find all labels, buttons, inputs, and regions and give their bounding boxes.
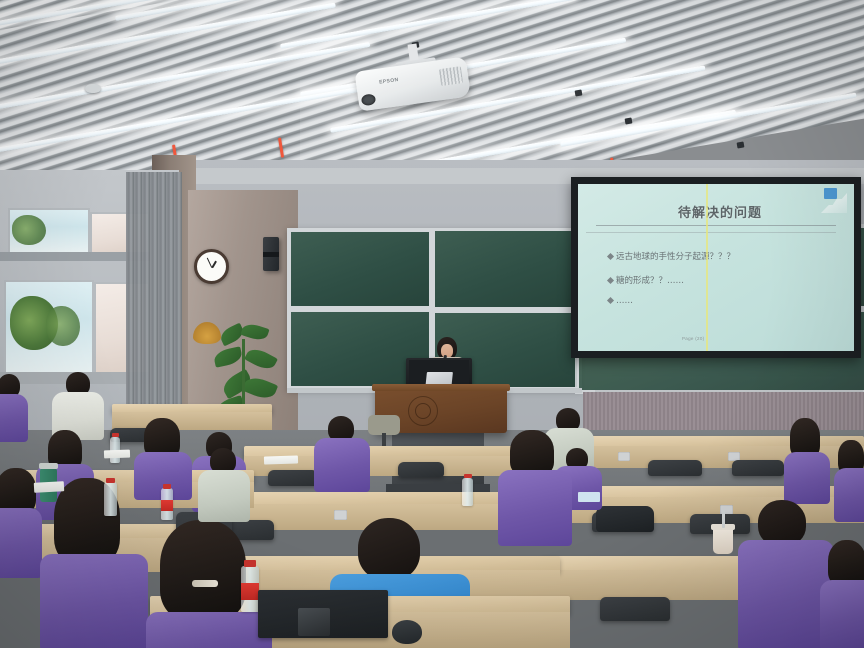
bottle-label bbox=[241, 583, 259, 600]
bottle-cap bbox=[464, 474, 472, 478]
classroom-chair[interactable] bbox=[600, 597, 670, 621]
stairs-logo-icon bbox=[824, 188, 837, 199]
clock-minute-hand bbox=[206, 257, 212, 268]
podium-top-surface bbox=[372, 384, 510, 391]
student-torso bbox=[834, 468, 864, 522]
student-torso bbox=[314, 438, 370, 492]
bottle-label bbox=[161, 500, 173, 511]
bottle-cap bbox=[106, 478, 115, 483]
slide-bullet-3: …… bbox=[608, 296, 633, 306]
led-end-cap bbox=[625, 117, 633, 124]
classroom-chair[interactable] bbox=[268, 470, 318, 486]
bottle-cap bbox=[163, 484, 171, 489]
blackboard-panel bbox=[291, 232, 429, 306]
computer-mouse[interactable] bbox=[392, 620, 422, 644]
projector-vent bbox=[439, 66, 463, 86]
bullet-diamond-icon bbox=[607, 297, 614, 304]
notebook-paper bbox=[104, 450, 130, 459]
student-torso bbox=[784, 452, 830, 504]
slide-title-underline bbox=[596, 225, 836, 226]
smartphone[interactable] bbox=[298, 608, 330, 636]
water-bottle bbox=[462, 478, 473, 506]
power-outlet[interactable] bbox=[618, 452, 630, 461]
screen-seam-line bbox=[706, 184, 708, 351]
student-hair bbox=[160, 520, 246, 620]
wall-speaker-band bbox=[263, 252, 279, 257]
plant-leaf bbox=[244, 345, 278, 373]
led-end-cap bbox=[737, 141, 745, 148]
university-seal-inner bbox=[415, 403, 431, 419]
slide-bullet-text: …… bbox=[616, 296, 633, 306]
bullet-diamond-icon bbox=[607, 277, 614, 284]
slide-title: 待解决的问题 bbox=[620, 202, 820, 221]
bottle-cap bbox=[112, 433, 119, 437]
tree-outside-window bbox=[12, 215, 46, 245]
classroom-chair[interactable] bbox=[648, 460, 702, 476]
plant-leaf bbox=[213, 346, 244, 367]
bubble-tea-cup bbox=[713, 528, 733, 554]
tree-outside-window bbox=[46, 306, 80, 346]
bullet-diamond-icon bbox=[607, 253, 614, 260]
backpack bbox=[596, 506, 654, 532]
water-bottle bbox=[104, 482, 117, 516]
snack-pack bbox=[578, 492, 600, 502]
student-torso bbox=[820, 580, 864, 648]
tumbler-lid bbox=[39, 463, 58, 469]
power-outlet[interactable] bbox=[334, 510, 347, 520]
led-end-cap bbox=[575, 89, 583, 96]
lecture-hall-scene: EPSON bbox=[0, 0, 864, 648]
smoke-detector bbox=[85, 84, 101, 93]
slide-page-number: Page (20) bbox=[682, 336, 704, 341]
student-torso bbox=[40, 554, 148, 648]
projection-screen: 待解决的问题 远古地球的手性分子起源？？？ 糖的形成？？…… …… Page (… bbox=[578, 184, 854, 351]
slide-bullet-2: 糖的形成？？…… bbox=[608, 274, 684, 286]
classroom-chair[interactable] bbox=[398, 462, 444, 477]
classroom-chair[interactable] bbox=[732, 460, 784, 476]
student-torso bbox=[0, 508, 42, 578]
slide-secondary-rule bbox=[586, 232, 836, 233]
blackboard-panel bbox=[435, 231, 577, 307]
notebook-paper bbox=[34, 481, 64, 493]
drinking-straw bbox=[722, 510, 725, 528]
student-head bbox=[358, 518, 420, 580]
slide-bullet-text: 糖的形成？？…… bbox=[616, 276, 684, 286]
slide-bullet-1: 远古地球的手性分子起源？？？ bbox=[608, 250, 735, 262]
student-torso bbox=[146, 612, 272, 648]
student-torso bbox=[498, 470, 572, 546]
slide-bullet-text: 远古地球的手性分子起源？？？ bbox=[616, 252, 735, 262]
attendee-torso bbox=[0, 394, 28, 442]
wall-clock bbox=[194, 249, 229, 284]
notebook-paper bbox=[264, 455, 298, 464]
bottle-cap bbox=[244, 560, 256, 567]
hair-clip bbox=[192, 580, 218, 587]
student-torso bbox=[198, 470, 250, 522]
office-chair[interactable] bbox=[368, 415, 400, 435]
